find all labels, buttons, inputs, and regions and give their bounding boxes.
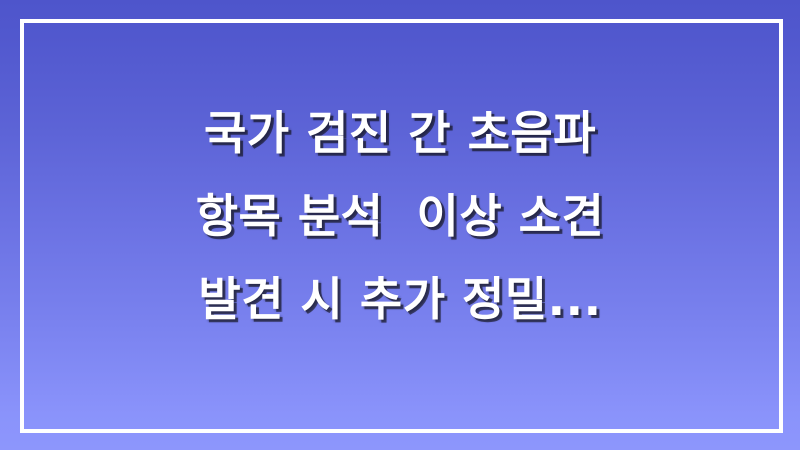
- headline-line-3: 발견 시 추가 정밀...: [198, 258, 601, 341]
- poster-card: 국가 검진 간 초음파 항목 분석 이상 소견 발견 시 추가 정밀...: [0, 0, 800, 450]
- headline-text-block: 국가 검진 간 초음파 항목 분석 이상 소견 발견 시 추가 정밀...: [0, 0, 800, 450]
- headline-line-2: 항목 분석 이상 소견: [196, 175, 605, 258]
- headline-line-1: 국가 검진 간 초음파: [204, 92, 596, 175]
